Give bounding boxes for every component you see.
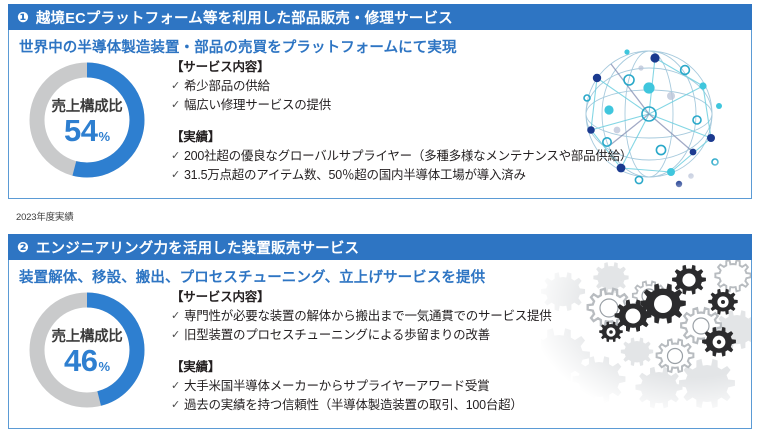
section-2-body: 装置解体、移設、搬出、プロセスチューニング、立上げサービスを提供 売上構成比 4… — [8, 260, 752, 429]
check-icon: ✓ — [171, 77, 180, 96]
list-item: ✓ 専門性が必要な装置の解体から搬出まで一気通貫でのサービス提供 — [171, 307, 751, 326]
section-1-service-block: 【サービス内容】 ✓ 希少部品の供給 ✓ 幅広い修理サービスの提供 — [171, 56, 751, 115]
list-item-text: 旧型装置のプロセスチューニングによる歩留まりの改善 — [184, 326, 490, 345]
list-item: ✓ 希少部品の供給 — [171, 77, 751, 96]
section-1-body: 世界中の半導体製造装置・部品の売買をプラットフォームにて実現 売上構成比 54 … — [8, 30, 752, 199]
section-2-header-title: エンジニアリング力を活用した装置販売サービス — [36, 237, 359, 258]
section-1-result-block: 【実績】 ✓ 200社超の優良なグローバルサプライヤー（多種多様なメンテナンスや… — [171, 126, 751, 185]
list-item: ✓ 大手米国半導体メーカーからサプライヤーアワード受賞 — [171, 377, 751, 396]
section-1-header-title: 越境ECプラットフォーム等を利用した部品販売・修理サービス — [36, 7, 453, 28]
list-item: ✓ 幅広い修理サービスの提供 — [171, 96, 751, 115]
list-item-text: 200社超の優良なグローバルサプライヤー（多種多様なメンテナンスや部品供給） — [184, 147, 632, 166]
block-spacer — [171, 348, 751, 356]
section-1-footnote: 2023年度実績 — [16, 209, 74, 223]
list-item-text: 31.5万点超のアイテム数、50％超の国内半導体工場が導入済み — [184, 166, 526, 185]
section-1-header: ❶ 越境ECプラットフォーム等を利用した部品販売・修理サービス — [8, 4, 752, 30]
check-icon: ✓ — [171, 307, 180, 326]
section-engineering-equipment-sales: ❷ エンジニアリング力を活用した装置販売サービス — [8, 234, 752, 429]
section-1-number-badge: ❶ — [17, 10, 29, 24]
list-item: ✓ 200社超の優良なグローバルサプライヤー（多種多様なメンテナンスや部品供給） — [171, 147, 751, 166]
section-cross-border-ec: ❶ 越境ECプラットフォーム等を利用した部品販売・修理サービス — [8, 4, 752, 199]
list-item-text: 幅広い修理サービスの提供 — [184, 96, 331, 115]
section-1-content: 【サービス内容】 ✓ 希少部品の供給 ✓ 幅広い修理サービスの提供 【実績】 ✓ — [171, 56, 751, 188]
list-item-text: 過去の実績を持つ信頼性（半導体製造装置の取引、100台超） — [184, 396, 523, 415]
service-block-title-2: 【サービス内容】 — [171, 286, 751, 305]
list-item: ✓ 31.5万点超のアイテム数、50％超の国内半導体工場が導入済み — [171, 166, 751, 185]
section-2-subtitle: 装置解体、移設、搬出、プロセスチューニング、立上げサービスを提供 — [9, 260, 751, 287]
result-block-title-2: 【実績】 — [171, 356, 751, 375]
section-2-header: ❷ エンジニアリング力を活用した装置販売サービス — [8, 234, 752, 260]
block-spacer — [171, 118, 751, 126]
sales-composition-donut-2: 売上構成比 46 % — [23, 286, 151, 414]
list-item: ✓ 旧型装置のプロセスチューニングによる歩留まりの改善 — [171, 326, 751, 345]
list-item: ✓ 過去の実績を持つ信頼性（半導体製造装置の取引、100台超） — [171, 396, 751, 415]
section-2-result-block: 【実績】 ✓ 大手米国半導体メーカーからサプライヤーアワード受賞 ✓ 過去の実績… — [171, 356, 751, 415]
check-icon: ✓ — [171, 377, 180, 396]
result-block-title-1: 【実績】 — [171, 126, 751, 145]
section-2-content: 【サービス内容】 ✓ 専門性が必要な装置の解体から搬出まで一気通貫でのサービス提… — [171, 286, 751, 418]
section-1-subtitle: 世界中の半導体製造装置・部品の売買をプラットフォームにて実現 — [9, 30, 751, 57]
check-icon: ✓ — [171, 326, 180, 345]
check-icon: ✓ — [171, 147, 180, 166]
list-item-text: 大手米国半導体メーカーからサプライヤーアワード受賞 — [184, 377, 489, 396]
section-2-number-badge: ❷ — [17, 240, 29, 254]
sales-composition-donut-1: 売上構成比 54 % — [23, 56, 151, 184]
check-icon: ✓ — [171, 166, 180, 185]
list-item-text: 希少部品の供給 — [184, 77, 270, 96]
check-icon: ✓ — [171, 96, 180, 115]
check-icon: ✓ — [171, 396, 180, 415]
service-block-title-1: 【サービス内容】 — [171, 56, 751, 75]
slide-root: ❶ 越境ECプラットフォーム等を利用した部品販売・修理サービス — [0, 0, 760, 448]
section-2-service-block: 【サービス内容】 ✓ 専門性が必要な装置の解体から搬出まで一気通貫でのサービス提… — [171, 286, 751, 345]
list-item-text: 専門性が必要な装置の解体から搬出まで一気通貫でのサービス提供 — [184, 307, 552, 326]
